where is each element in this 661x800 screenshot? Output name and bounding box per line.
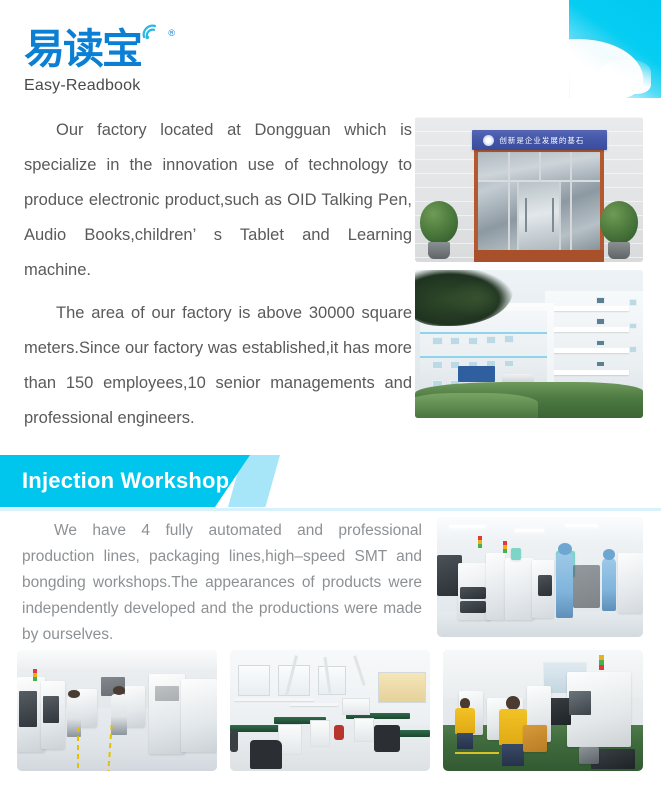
injection-workshop-text: We have 4 fully automated and profession… bbox=[22, 518, 422, 648]
laboratory-bench-photo bbox=[230, 650, 430, 771]
workshop-paragraph-1: We have 4 fully automated and profession… bbox=[22, 518, 422, 648]
section-title: Injection Workshop bbox=[22, 455, 229, 507]
entrance-banner-text: 创新是企业发展的基石 bbox=[499, 135, 584, 146]
factory-building-photo bbox=[415, 270, 643, 418]
page-curl-icon bbox=[569, 0, 661, 98]
logo-english-text: Easy-Readbook bbox=[24, 77, 169, 95]
smt-operators-photo bbox=[443, 650, 643, 771]
logo-mark: 易读宝 ® bbox=[24, 24, 169, 76]
company-profile-text: Our factory located at Dongguan which is… bbox=[24, 113, 412, 436]
brand-logo: 易读宝 ® Easy-Readbook bbox=[24, 24, 169, 95]
smt-cleanroom-photo bbox=[437, 517, 643, 637]
injection-workshop-banner: Injection Workshop bbox=[0, 455, 661, 507]
production-line-photo bbox=[17, 650, 217, 771]
page-root: 易读宝 ® Easy-Readbook Our factory located … bbox=[0, 0, 661, 800]
registered-trademark-icon: ® bbox=[168, 28, 175, 38]
wifi-signal-icon bbox=[141, 22, 161, 40]
entrance-slogan-banner: 创新是企业发展的基石 bbox=[472, 130, 607, 150]
profile-paragraph-2: The area of our factory is above 30000 s… bbox=[24, 296, 412, 436]
profile-paragraph-1: Our factory located at Dongguan which is… bbox=[24, 113, 412, 288]
section-divider bbox=[0, 508, 661, 511]
entrance-banner-logo-icon bbox=[483, 135, 494, 146]
factory-entrance-photo: 创新是企业发展的基石 bbox=[415, 117, 643, 262]
